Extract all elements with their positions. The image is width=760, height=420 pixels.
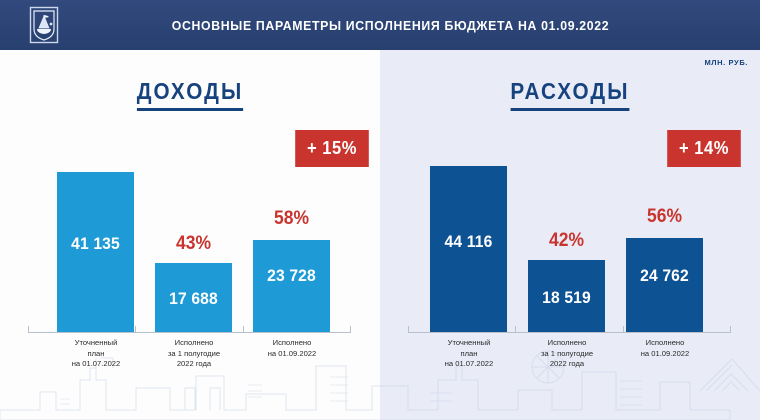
category-label-1: Исполнено за 1 полугодие 2022 года <box>512 338 622 370</box>
revenue-panel: ДОХОДЫ + 15% 41 135 17 688 43% 23 728 58… <box>0 50 380 420</box>
axis-tick <box>135 326 136 333</box>
cat-line: Исполнено <box>610 338 720 349</box>
axis-tick <box>730 326 731 333</box>
bar-revenue-1: 17 688 43% <box>155 263 232 332</box>
expense-bar-chart: 44 116 18 519 42% 24 762 56% Уточненный … <box>380 50 760 420</box>
expense-panel: МЛН. РУБ. РАСХОДЫ + 14% 44 116 18 519 42… <box>380 50 760 420</box>
bar-revenue-2: 23 728 58% <box>253 240 330 332</box>
axis-tick <box>28 326 29 333</box>
cat-line: на 01.07.2022 <box>414 359 524 370</box>
category-label-0: Уточненный план на 01.07.2022 <box>41 338 151 370</box>
coat-of-arms-icon <box>29 6 59 44</box>
infographic-page: ОСНОВНЫЕ ПАРАМЕТРЫ ИСПОЛНЕНИЯ БЮДЖЕТА НА… <box>0 0 760 420</box>
cat-line: Исполнено <box>139 338 249 349</box>
cat-line: Уточненный <box>41 338 151 349</box>
axis-tick <box>515 326 516 333</box>
revenue-axis-line <box>28 332 350 333</box>
bar-value-label: 18 519 <box>531 288 602 308</box>
bar-revenue-0: 41 135 <box>57 172 134 332</box>
cat-line: Исполнено <box>512 338 622 349</box>
logo-container <box>0 0 88 50</box>
cat-line: Уточненный <box>414 338 524 349</box>
cat-line: план <box>414 349 524 360</box>
category-label-0: Уточненный план на 01.07.2022 <box>414 338 524 370</box>
bar-expense-1: 18 519 42% <box>528 260 605 332</box>
cat-line: на 01.07.2022 <box>41 359 151 370</box>
cat-line: Исполнено <box>237 338 347 349</box>
cat-line: за 1 полугодие <box>512 349 622 360</box>
cat-line: на 01.09.2022 <box>610 349 720 360</box>
cat-line: 2022 года <box>512 359 622 370</box>
cat-line: план <box>41 349 151 360</box>
revenue-bar-chart: 41 135 17 688 43% 23 728 58% Уточненный … <box>0 50 380 420</box>
bar-percent-label: 58% <box>256 208 327 230</box>
cat-line: за 1 полугодие <box>139 349 249 360</box>
bar-expense-2: 24 762 56% <box>626 238 703 332</box>
bar-value-label: 41 135 <box>60 234 131 254</box>
category-label-2: Исполнено на 01.09.2022 <box>237 338 347 359</box>
cat-line: на 01.09.2022 <box>237 349 347 360</box>
axis-tick <box>243 326 244 333</box>
bar-expense-0: 44 116 <box>430 166 507 332</box>
bar-value-label: 17 688 <box>158 289 229 309</box>
bar-value-label: 23 728 <box>256 266 327 286</box>
axis-tick <box>350 326 351 333</box>
expense-axis-line <box>408 332 730 333</box>
category-label-2: Исполнено на 01.09.2022 <box>610 338 720 359</box>
bar-percent-label: 43% <box>158 233 229 255</box>
page-header: ОСНОВНЫЕ ПАРАМЕТРЫ ИСПОЛНЕНИЯ БЮДЖЕТА НА… <box>0 0 760 50</box>
axis-tick <box>408 326 409 333</box>
category-label-1: Исполнено за 1 полугодие 2022 года <box>139 338 249 370</box>
bar-value-label: 24 762 <box>629 266 700 286</box>
bar-value-label: 44 116 <box>433 232 504 252</box>
cat-line: 2022 года <box>139 359 249 370</box>
axis-tick <box>623 326 624 333</box>
bar-percent-label: 42% <box>531 230 602 252</box>
bar-percent-label: 56% <box>629 206 700 228</box>
page-title: ОСНОВНЫЕ ПАРАМЕТРЫ ИСПОЛНЕНИЯ БЮДЖЕТА НА… <box>112 18 737 33</box>
